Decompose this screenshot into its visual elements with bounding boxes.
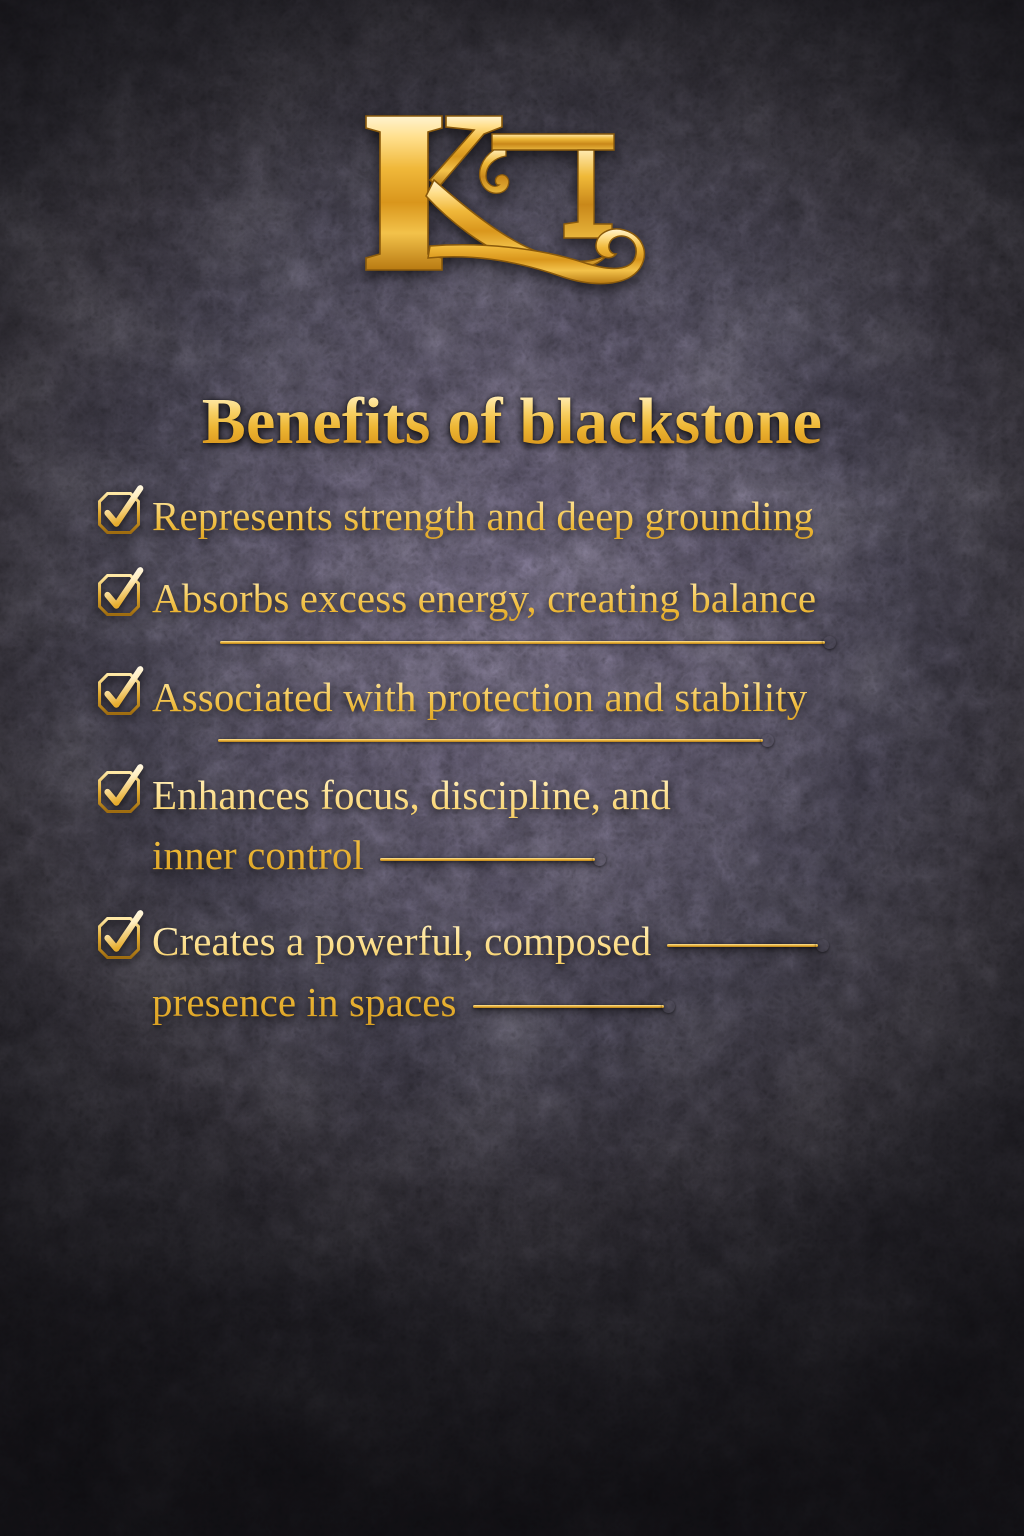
list-item: Absorbs excess energy, creating balance [96, 568, 972, 628]
list-item-line: Creates a powerful, composed [152, 918, 651, 964]
kt-gold-monogram-icon [342, 96, 682, 296]
list-item-text: Represents strength and deep grounding [152, 486, 814, 546]
connector-line [667, 939, 829, 953]
list-item-line: Absorbs excess energy, creating balance [152, 575, 816, 621]
check-icon [96, 490, 142, 536]
connector-line [380, 853, 606, 867]
check-icon [96, 572, 142, 618]
connector-rule [220, 641, 825, 644]
check-icon [96, 915, 142, 961]
connector-line [96, 635, 972, 651]
list-item-line: Represents strength and deep grounding [152, 493, 814, 539]
connector-rule [218, 739, 763, 742]
list-item-text: Absorbs excess energy, creating balance [152, 568, 816, 628]
connector-dot [593, 853, 606, 866]
connector-line [473, 999, 675, 1013]
connector-rule [667, 944, 818, 947]
list-item: Associated with protection and stability [96, 667, 972, 727]
list-item-line: Associated with protection and stability [152, 674, 807, 720]
check-icon [96, 671, 142, 717]
brand-logo [0, 96, 1024, 296]
connector-dot [823, 636, 836, 649]
blackstone-benefits-poster: Benefits of blackstone [0, 0, 1024, 1536]
list-item: Enhances focus, discipline, and inner co… [96, 765, 972, 886]
benefits-list: Represents strength and deep grounding A… [96, 486, 972, 1032]
connector-line [96, 733, 972, 749]
list-item-text: Associated with protection and stability [152, 667, 807, 727]
connector-rule [380, 858, 595, 861]
list-item-text: Creates a powerful, composed presence in… [152, 911, 829, 1032]
page-title: Benefits of blackstone [0, 389, 1024, 455]
list-item: Represents strength and deep grounding [96, 486, 972, 546]
connector-dot [662, 1000, 675, 1013]
connector-dot [816, 939, 829, 952]
check-icon [96, 769, 142, 815]
list-item-line: presence in spaces [152, 979, 457, 1025]
list-item-line: inner control [152, 832, 364, 878]
list-item-text: Enhances focus, discipline, and inner co… [152, 765, 671, 886]
list-item: Creates a powerful, composed presence in… [96, 911, 972, 1032]
list-item-line: Enhances focus, discipline, and [152, 772, 671, 818]
connector-dot [761, 734, 774, 747]
connector-rule [473, 1005, 664, 1008]
